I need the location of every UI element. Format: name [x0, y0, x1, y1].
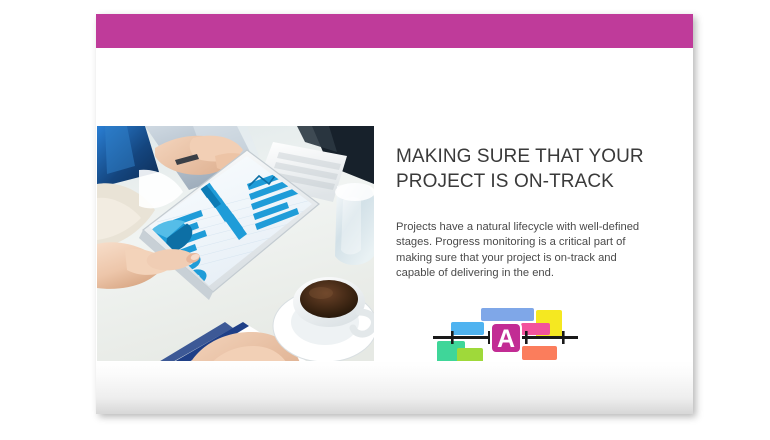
bar-salmon [522, 346, 557, 360]
bar-periwinkle [481, 308, 534, 321]
footer-gradient [96, 361, 693, 414]
slide-body-text: Projects have a natural lifecycle with w… [396, 220, 640, 282]
slide-body: MAKING SURE THAT YOUR PROJECT IS ON-TRAC… [96, 48, 693, 361]
bar-sky-blue [451, 322, 484, 335]
header-band [96, 14, 693, 48]
slide-title-line2: PROJECT IS ON-TRACK [396, 171, 614, 192]
logo-block: A [490, 322, 522, 354]
business-tablet-photo [97, 126, 374, 381]
text-column: MAKING SURE THAT YOUR PROJECT IS ON-TRAC… [396, 144, 658, 194]
logo-letter: A [497, 325, 515, 353]
presentation-slide[interactable]: MAKING SURE THAT YOUR PROJECT IS ON-TRAC… [96, 14, 693, 414]
slide-title-line1: MAKING SURE THAT YOUR [396, 146, 644, 167]
slide-title: MAKING SURE THAT YOUR PROJECT IS ON-TRAC… [396, 144, 658, 194]
